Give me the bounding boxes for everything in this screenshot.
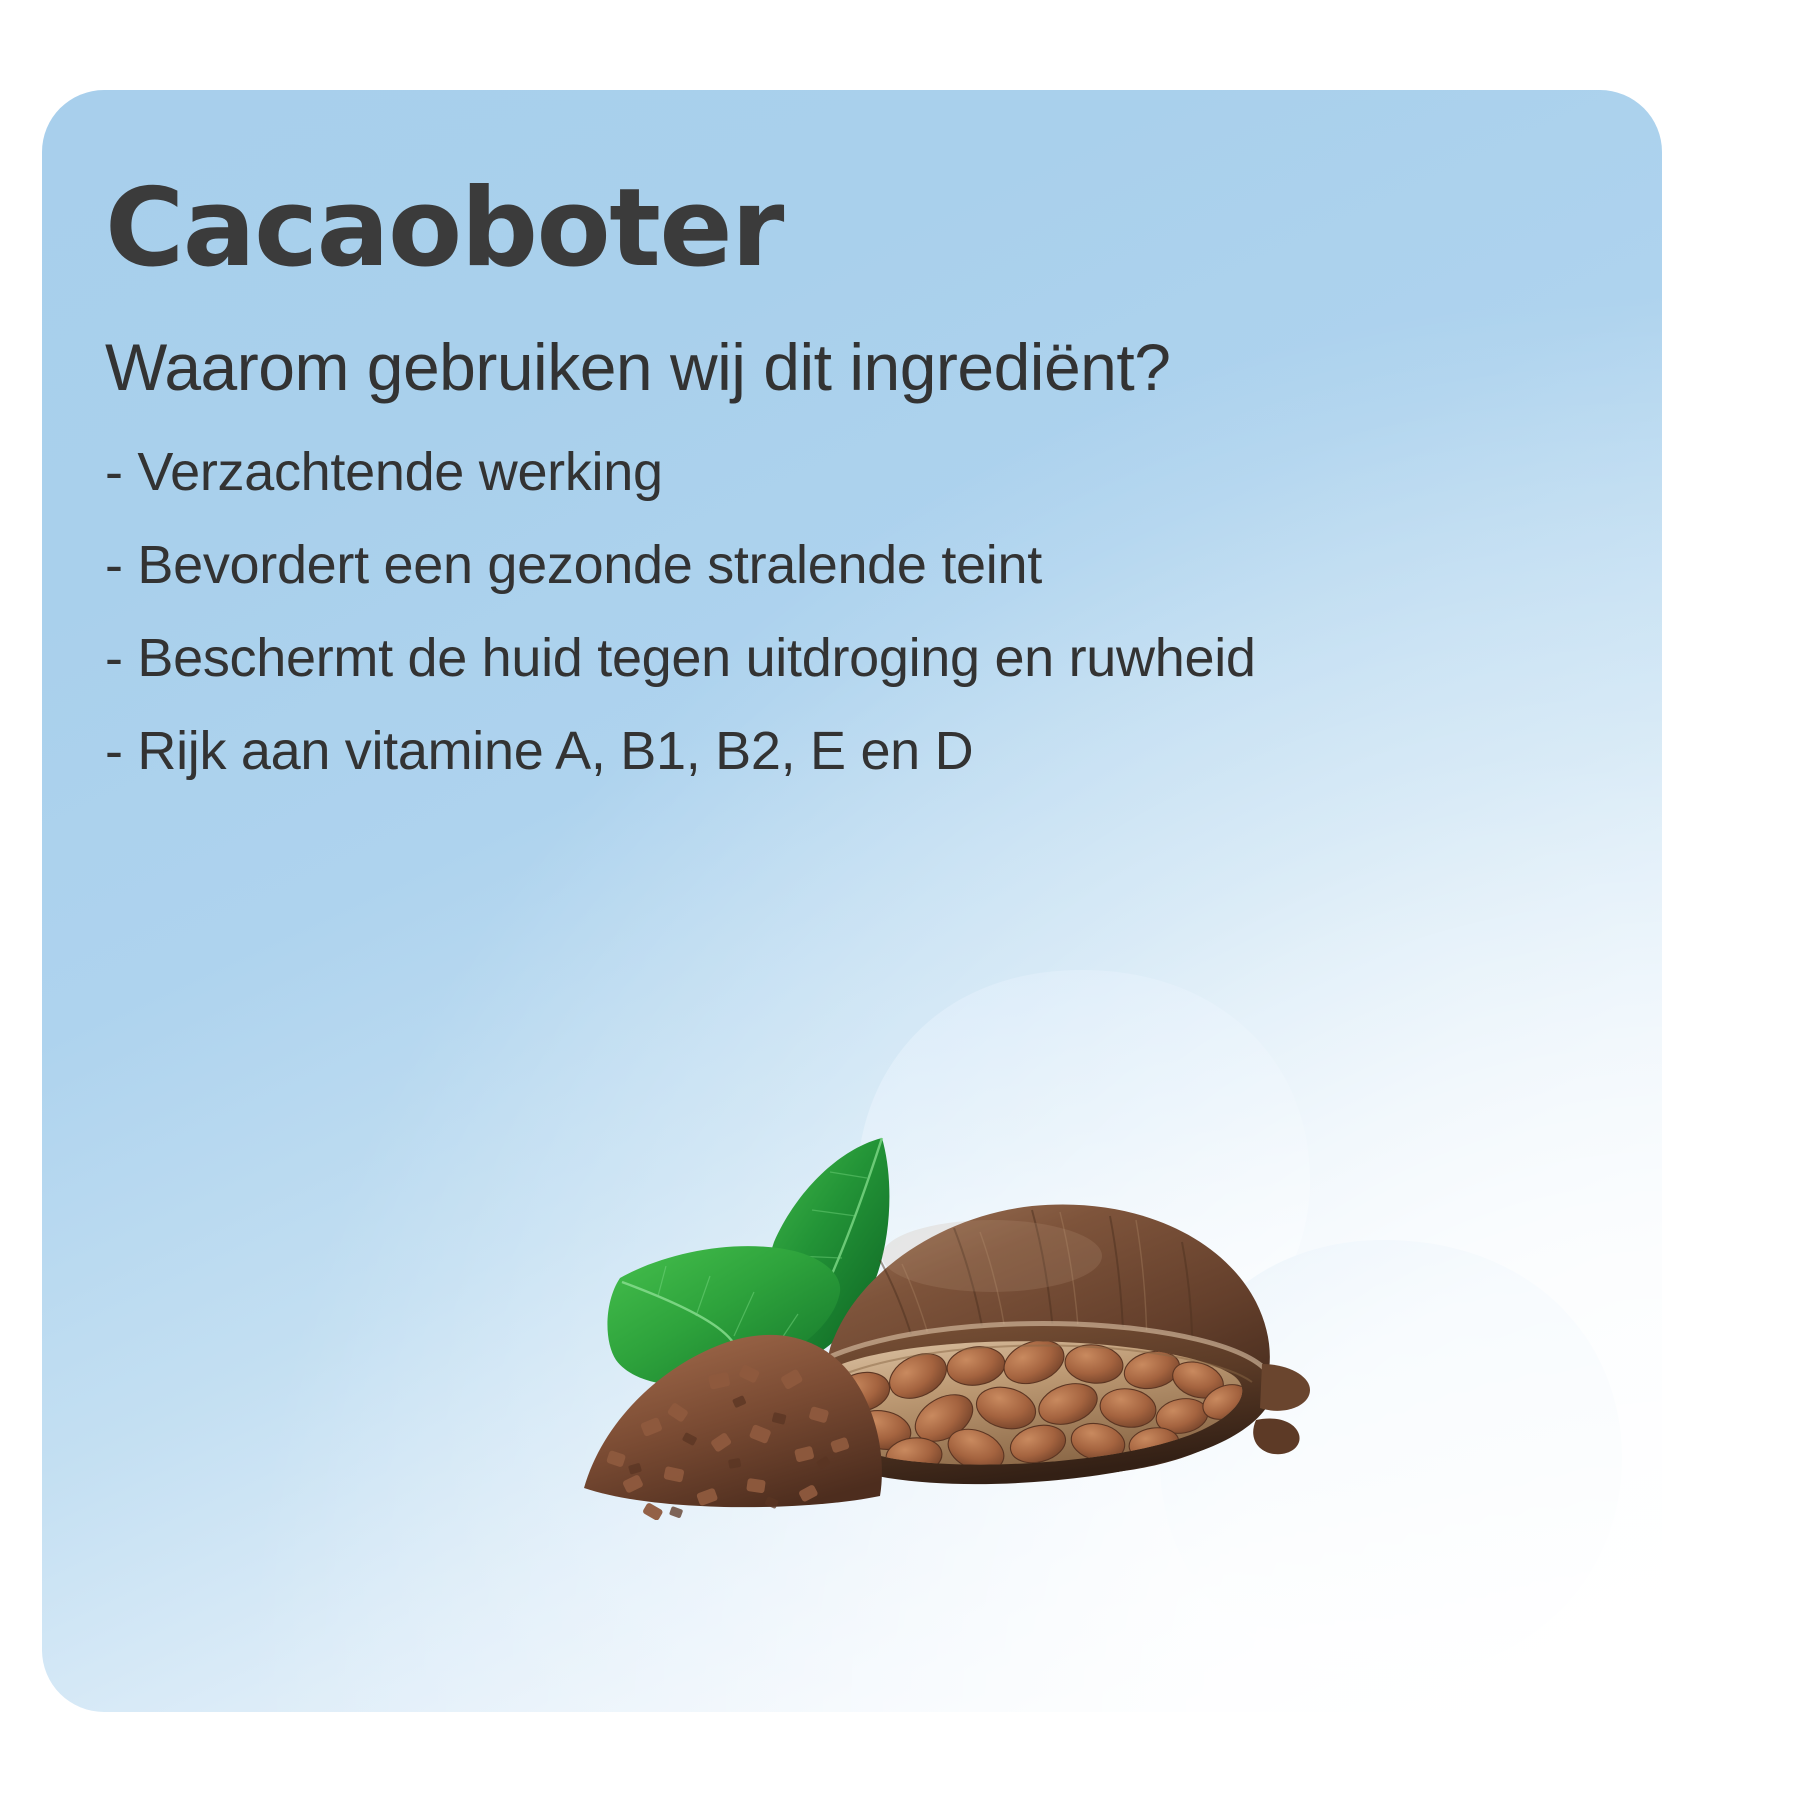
green-leaf [607,1246,840,1385]
benefits-list: - Verzachtende werking - Bevordert een g… [105,445,1605,778]
page-root: Cacaoboter Waarom gebruiken wij dit ingr… [0,0,1800,1800]
card-text-block: Cacaoboter Waarom gebruiken wij dit ingr… [105,175,1605,778]
page-title: Cacaoboter [105,175,1605,283]
bullet-marker: - [105,445,123,499]
whole-cacao-pod [828,1204,1300,1478]
list-item: - Bevordert een gezonde stralende teint [105,538,1605,592]
benefit-text: Bevordert een gezonde stralende teint [137,538,1042,592]
list-item: - Rijk aan vitamine A, B1, B2, E en D [105,724,1605,778]
ingredient-card: Cacaoboter Waarom gebruiken wij dit ingr… [42,90,1662,1712]
cacao-beans [800,1333,1254,1479]
green-leaf [765,1138,889,1366]
list-item: - Beschermt de huid tegen uitdroging en … [105,631,1605,685]
benefit-text: Verzachtende werking [137,445,662,499]
list-item: - Verzachtende werking [105,445,1605,499]
bullet-marker: - [105,538,123,592]
open-cacao-pod-with-beans [785,1323,1310,1484]
card-subtitle: Waarom gebruiken wij dit ingrediënt? [105,331,1605,405]
bullet-marker: - [105,724,123,778]
benefit-text: Beschermt de huid tegen uitdroging en ru… [137,631,1255,685]
benefit-text: Rijk aan vitamine A, B1, B2, E en D [137,724,973,778]
bullet-marker: - [105,631,123,685]
cacao-nibs-pile [584,1335,882,1520]
cacao-pod-photo [562,1020,1322,1520]
